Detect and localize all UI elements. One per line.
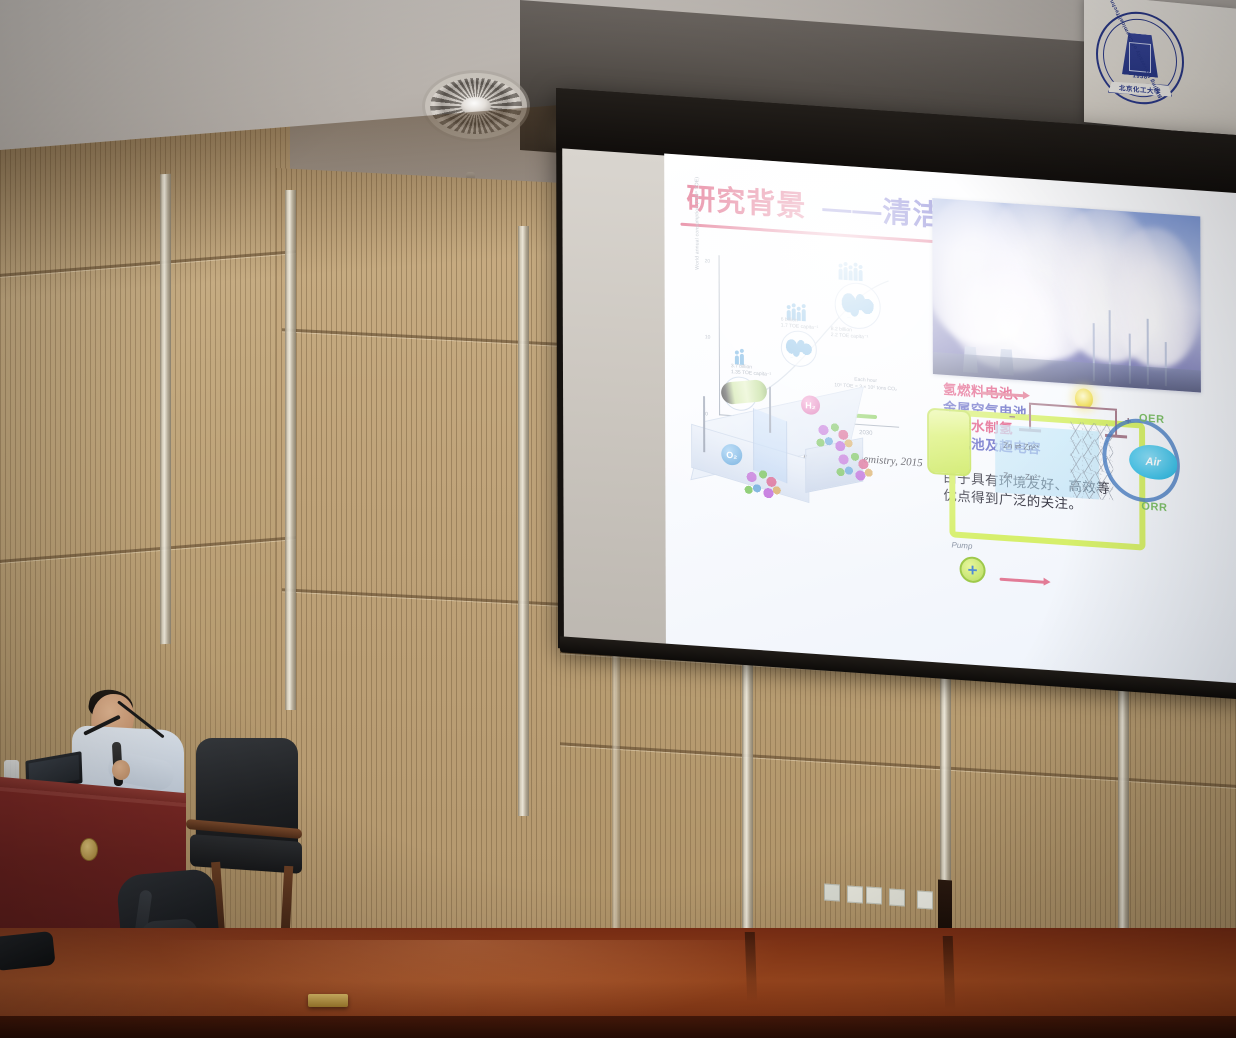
wall-outlet[interactable] [847,885,863,903]
negative-terminal: − [1009,411,1015,423]
wall-outlet[interactable] [917,890,933,909]
chart-y-tick: 20 [705,258,711,264]
stage-front-edge [0,1016,1236,1038]
presentation-slide: 研究背景——清洁能源 World annual consumption (×10… [664,153,1236,689]
electrolyte-tank [927,408,971,477]
smokestack-photo [932,198,1201,393]
projection-screen: 研究背景——清洁能源 World annual consumption (×10… [556,88,1236,706]
pump-label: Pump [951,540,972,550]
wall-metal-trim [160,174,171,645]
wall-outlet[interactable] [866,886,882,904]
slide-title-main: 研究背景 [686,183,806,223]
wall-metal-trim [285,190,296,710]
chart-y-label: World annual consumption (×10⁹ TOE) [694,153,700,270]
catalyst-cluster [835,449,873,486]
flow-arrow-top [981,391,1025,397]
catalyst-cluster [743,467,781,504]
pump-icon: + [960,556,986,584]
diffuser-blades [430,78,522,134]
lecture-hall-photo: 1958 北京化工大学 Beijing University of Chemic… [0,0,1236,1038]
presenter-hand [112,760,130,780]
wall-middle-panel [276,168,576,984]
wall-metal-trim [612,640,620,940]
flow-arrow-bottom [1000,578,1046,584]
floor-socket-cover [308,994,348,1007]
wall-outlet[interactable] [824,883,840,901]
wall-metal-trim [742,636,753,936]
population-icon-2030 [839,265,863,282]
wall-metal-trim [518,226,529,816]
wall-metal-trim [1118,664,1129,954]
oxygen-badge: O₂ [721,443,742,465]
world-map-icon [841,293,874,319]
chart-annotation-2030: 8.2 billion 2.2 TOE capita⁻¹ [831,325,869,341]
air-diffuser-icon [430,78,522,134]
water-electrolysis-diagram: H₂ O₂ [687,355,880,518]
world-map-icon [786,339,811,359]
chart-y-tick: 10 [705,334,711,340]
university-seal: 1958 北京化工大学 Beijing University of Chemic… [1096,8,1184,108]
screen-unlit-margin [562,148,668,649]
power-source-icon [720,379,769,405]
presenter-shoe [0,931,56,971]
orr-label: ORR [1141,500,1167,514]
wall-outlet[interactable] [889,888,905,906]
chart-annotation-2000: 6 billion 1.7 TOE capita⁻¹ [781,316,819,332]
seal-english-name: Beijing University of Chemical Technolog… [1096,8,1184,108]
oer-label: OER [1139,412,1165,426]
hydrogen-badge: H₂ [801,395,820,415]
lectern-emblem [80,838,98,861]
zinc-air-flow-battery-diagram: + Pump − + Zn ⇌ Zn²⁺ Zn → Zn²⁺ Air [943,381,1212,586]
